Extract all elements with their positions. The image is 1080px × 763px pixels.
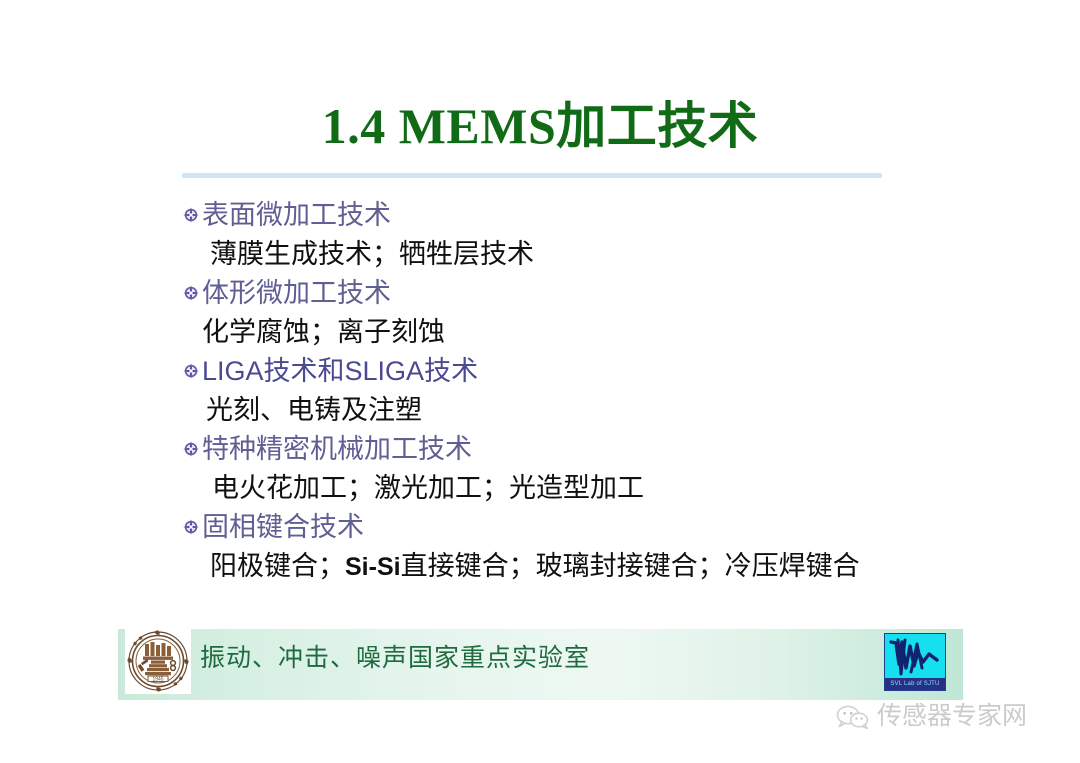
compass-diamond-bullet-icon	[180, 274, 202, 312]
list-item-heading: 体形微加工技术	[202, 274, 391, 312]
list-item-heading: 表面微加工技术	[202, 196, 391, 234]
list-item: 固相键合技术	[180, 508, 1010, 546]
lab-name-label: 振动、冲击、噪声国家重点实验室	[200, 642, 590, 676]
compass-diamond-bullet-icon	[180, 430, 202, 468]
page-title: 1.4 MEMS加工技术	[0, 96, 1080, 156]
compass-diamond-bullet-icon	[180, 352, 202, 390]
compass-diamond-bullet-icon	[180, 508, 202, 546]
wechat-bubbles-icon	[836, 704, 870, 731]
list-item-heading: 特种精密机械加工技术	[202, 430, 472, 468]
detail-part-silicon: Si-Si	[345, 553, 401, 581]
waveform-logo-caption: SVL Lab of SJTU	[885, 678, 945, 690]
waveform-logo-icon: SVL Lab of SJTU	[884, 633, 946, 691]
list-item-detail: 光刻、电铸及注塑	[180, 390, 1010, 430]
svg-text:1945: 1945	[152, 676, 163, 682]
list-item: LIGA技术和SLIGA技术	[180, 352, 1010, 390]
list-item-detail: 电火花加工；激光加工；光造型加工	[180, 468, 1010, 508]
compass-diamond-bullet-icon	[180, 196, 202, 234]
detail-part-a: 阳极键合；	[210, 551, 345, 581]
detail-part-c: 直接键合；玻璃封接键合；冷压焊键合	[401, 551, 860, 581]
list-item: 表面微加工技术	[180, 196, 1010, 234]
content-list: 表面微加工技术 薄膜生成技术；牺牲层技术 体形微加工技术 化学腐蚀；离子刻蚀	[180, 196, 1010, 587]
watermark-label: 传感器专家网	[877, 702, 1027, 732]
university-seal-icon: 1945	[125, 628, 191, 694]
list-item-detail: 薄膜生成技术；牺牲层技术	[180, 234, 1010, 274]
slide-canvas: 1.4 MEMS加工技术 表面微加工技术 薄膜生成技术；牺牲层技术	[0, 0, 1080, 763]
list-item: 特种精密机械加工技术	[180, 430, 1010, 468]
watermark: 传感器专家网	[836, 702, 1027, 732]
title-block: 1.4 MEMS加工技术	[0, 96, 1080, 156]
list-item-detail: 阳极键合；Si-Si直接键合；玻璃封接键合；冷压焊键合	[180, 546, 1010, 587]
list-item: 体形微加工技术	[180, 274, 1010, 312]
list-item-heading: LIGA技术和SLIGA技术	[202, 352, 478, 390]
list-item-detail: 化学腐蚀；离子刻蚀	[180, 312, 1010, 352]
list-item-heading: 固相键合技术	[202, 508, 364, 546]
title-divider	[182, 173, 882, 178]
